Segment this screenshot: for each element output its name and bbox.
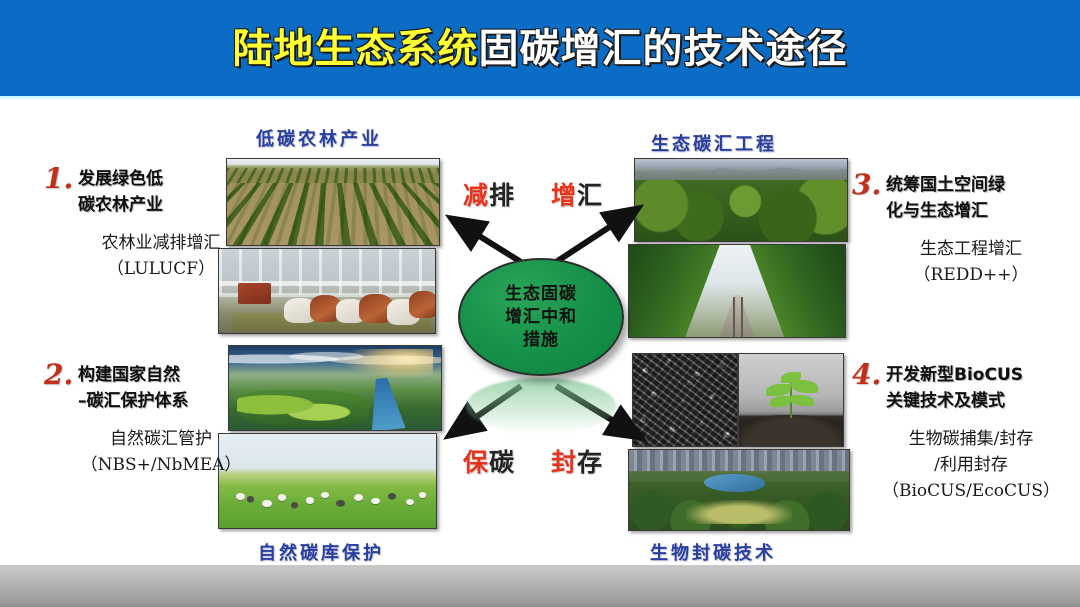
block-2-title: 构建国家自然 –碳汇保护体系: [78, 362, 286, 414]
block-3-number: 3.: [852, 168, 881, 201]
flow-label-seal-storage-hot: 封: [551, 448, 577, 477]
flow-label-increase-sink-cool: 汇: [577, 181, 603, 210]
caption-top-right: 生态碳汇工程: [651, 130, 777, 156]
block-4-title: 开发新型BioCUS 关键技术及模式: [886, 362, 1080, 414]
block-4-biocus-development: 4. 开发新型BioCUS 关键技术及模式 生物碳捕集/封存 /利用封存 （Bi…: [852, 362, 1080, 504]
block-2-number: 2.: [44, 358, 73, 391]
flow-label-increase-sink-hot: 增: [551, 181, 577, 210]
page-title-yellow: 陆地生态系统: [233, 26, 479, 72]
caption-bottom-left: 自然碳库保护: [258, 539, 384, 565]
center-node-reflection: [466, 378, 616, 434]
flow-label-protect-carbon: 保碳: [463, 443, 515, 479]
block-3-head: 3. 统筹国土空间绿 化与生态增汇: [852, 172, 1080, 224]
center-node-eco-carbon-measures: 生态固碳 增汇中和 措施: [458, 258, 624, 376]
block-3-territorial-greening: 3. 统筹国土空间绿 化与生态增汇 生态工程增汇 （REDD++）: [852, 172, 1080, 288]
page-title: 陆地生态系统固碳增汇的技术途径: [0, 27, 1080, 71]
block-4-number: 4.: [852, 358, 881, 391]
forested-hills-photo: [634, 158, 848, 242]
center-node-label: 生态固碳 增汇中和 措施: [505, 283, 577, 352]
flow-label-seal-storage: 封存: [551, 443, 603, 479]
flow-label-seal-storage-cool: 存: [577, 448, 603, 477]
urban-park-aerial-photo: [628, 449, 850, 531]
block-3-body: 生态工程增汇 （REDD++）: [852, 236, 1080, 288]
caption-top-left: 低碳农林产业: [256, 125, 382, 151]
block-1-body: 农林业减排增汇 （LULUCF）: [44, 230, 286, 282]
block-4-head: 4. 开发新型BioCUS 关键技术及模式: [852, 362, 1080, 414]
flow-label-protect-carbon-hot: 保: [463, 448, 489, 477]
slide-canvas: 陆地生态系统固碳增汇的技术途径 低碳农林产业 生态碳汇工程 自然碳库保护 生物封…: [0, 0, 1080, 607]
arrow-to-top-left: [452, 219, 521, 262]
bottom-band: [0, 565, 1080, 607]
flow-label-reduce-emission-hot: 减: [463, 181, 489, 210]
block-2-national-carbon-sink-protection: 2. 构建国家自然 –碳汇保护体系 自然碳汇管护 （NBS+/NbMEA）: [44, 362, 286, 478]
block-4-body: 生物碳捕集/封存 /利用封存 （BioCUS/EcoCUS）: [852, 426, 1080, 504]
flow-label-protect-carbon-cool: 碳: [489, 448, 515, 477]
flow-label-reduce-emission: 减排: [463, 176, 515, 212]
caption-bottom-right: 生物封碳技术: [650, 539, 776, 565]
photo-group-eco-carbon-sink-engineering: [628, 158, 850, 340]
arrow-to-top-right: [556, 209, 637, 262]
block-2-body: 自然碳汇管护 （NBS+/NbMEA）: [44, 426, 286, 478]
block-1-head: 1. 发展绿色低 碳农林产业: [44, 166, 286, 218]
block-1-low-carbon-agroforestry: 1. 发展绿色低 碳农林产业 农林业减排增汇 （LULUCF）: [44, 166, 286, 282]
photo-group-biocus-technology: [628, 353, 854, 535]
flow-label-reduce-emission-cool: 排: [489, 181, 515, 210]
page-title-white: 固碳增汇的技术途径: [479, 26, 848, 72]
block-1-title: 发展绿色低 碳农林产业: [78, 166, 286, 218]
block-2-head: 2. 构建国家自然 –碳汇保护体系: [44, 362, 286, 414]
block-3-title: 统筹国土空间绿 化与生态增汇: [886, 172, 1080, 224]
block-1-number: 1.: [44, 162, 73, 195]
biochar-sem-photo: [632, 353, 738, 447]
flow-label-increase-sink: 增汇: [551, 176, 603, 212]
seedling-in-biochar-photo: [738, 353, 844, 447]
header-underline: [0, 96, 1080, 101]
tree-lined-railway-photo: [628, 244, 846, 338]
